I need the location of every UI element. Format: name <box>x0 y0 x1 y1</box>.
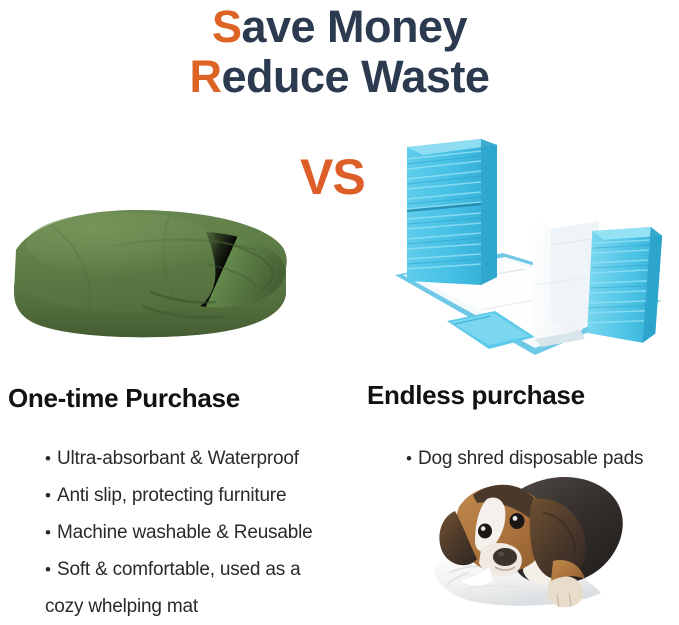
list-item: Soft & comfortable, used as a <box>45 551 395 588</box>
green-blanket-image <box>10 188 295 358</box>
versus-label: VS <box>300 152 365 202</box>
headline-line-2: Reduce Waste <box>0 52 679 102</box>
headline-initial-s: S <box>212 1 242 52</box>
headline-line-2-rest: educe Waste <box>222 51 490 102</box>
headline-line-1-rest: ave Money <box>241 1 467 52</box>
headline-initial-r: R <box>190 51 222 102</box>
puppy-pads-image <box>385 125 675 375</box>
right-column-heading: Endless purchase <box>367 380 585 411</box>
left-column-heading: One-time Purchase <box>8 383 240 414</box>
list-item: Machine washable & Reusable <box>45 514 395 551</box>
infographic-canvas: Save Money Reduce Waste VS <box>0 0 679 618</box>
list-item-continuation: cozy whelping mat <box>45 588 395 625</box>
headline-line-1: Save Money <box>0 2 679 52</box>
list-item: Anti slip, protecting furniture <box>45 477 395 514</box>
page-title: Save Money Reduce Waste <box>0 2 679 102</box>
list-item: Ultra-absorbant & Waterproof <box>45 440 395 477</box>
beagle-puppy-image <box>425 455 675 615</box>
left-feature-list: Ultra-absorbant & Waterproof Anti slip, … <box>5 440 395 625</box>
